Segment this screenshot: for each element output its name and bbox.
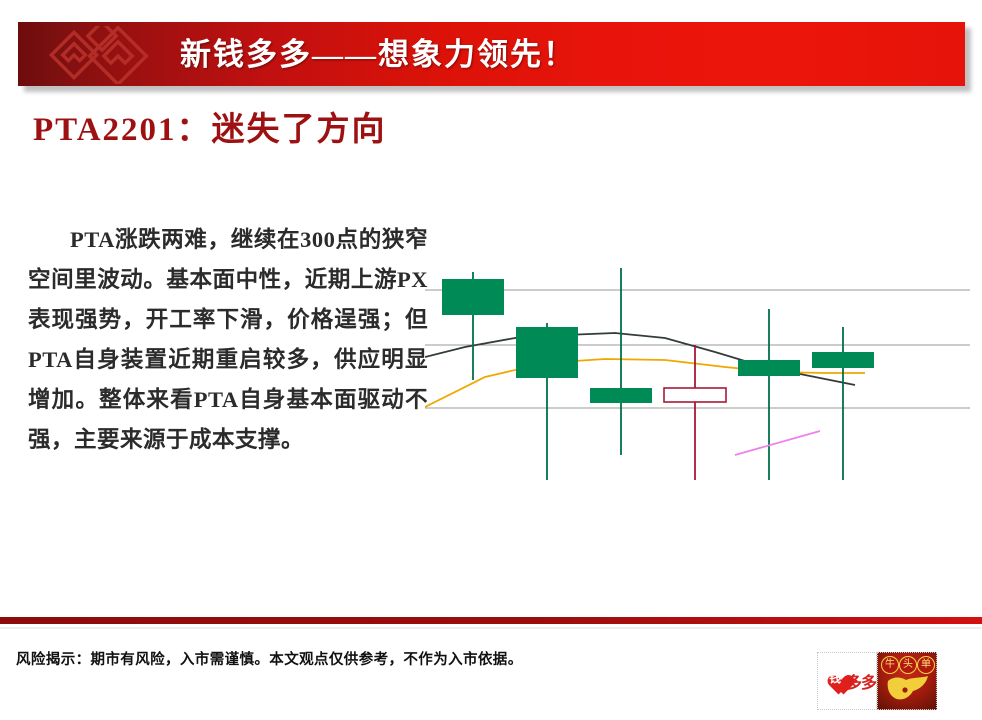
niutoudan-characters: 牛 头 单 — [881, 656, 935, 674]
candle-body-2 — [590, 388, 652, 403]
candle-body-1 — [516, 327, 578, 378]
niutoudan-logo: 牛 头 单 — [877, 652, 937, 710]
footer-rule — [0, 617, 982, 624]
trend-line — [735, 431, 820, 455]
header-banner: 新钱多多——想象力领先！ — [18, 22, 965, 86]
logo-svg — [44, 26, 172, 84]
candle-body-3 — [664, 388, 726, 402]
banner-title: 新钱多多——想象力领先！ — [180, 26, 576, 84]
bull-head-icon — [886, 675, 930, 705]
niutoudan-char-2: 单 — [917, 656, 935, 674]
qiandouduo-text: 多多 — [846, 669, 876, 693]
candle-body-0 — [442, 279, 504, 315]
candlestick-chart — [425, 255, 982, 480]
banner-background: 新钱多多——想象力领先！ — [18, 22, 965, 86]
candle-body-4 — [738, 360, 800, 376]
niutoudan-char-0: 牛 — [881, 656, 899, 674]
chart-svg — [425, 255, 982, 480]
page-title: PTA2201：迷失了方向 — [33, 108, 433, 153]
qiandouduo-logo: 钱 多多 — [817, 652, 877, 710]
disclaimer-text: 风险揭示：期市有风险，入市需谨慎。本文观点仅供参考，不作为入市依据。 — [16, 648, 523, 669]
heart-character: 钱 — [824, 668, 846, 688]
footer-rule-thin — [0, 627, 982, 629]
niutoudan-char-1: 头 — [899, 656, 917, 674]
body-paragraph: PTA涨跌两难，继续在300点的狭窄空间里波动。基本面中性，近期上游PX表现强势… — [28, 220, 428, 460]
diamond-lattice-logo-icon — [44, 26, 172, 84]
candle-body-5 — [812, 352, 874, 368]
